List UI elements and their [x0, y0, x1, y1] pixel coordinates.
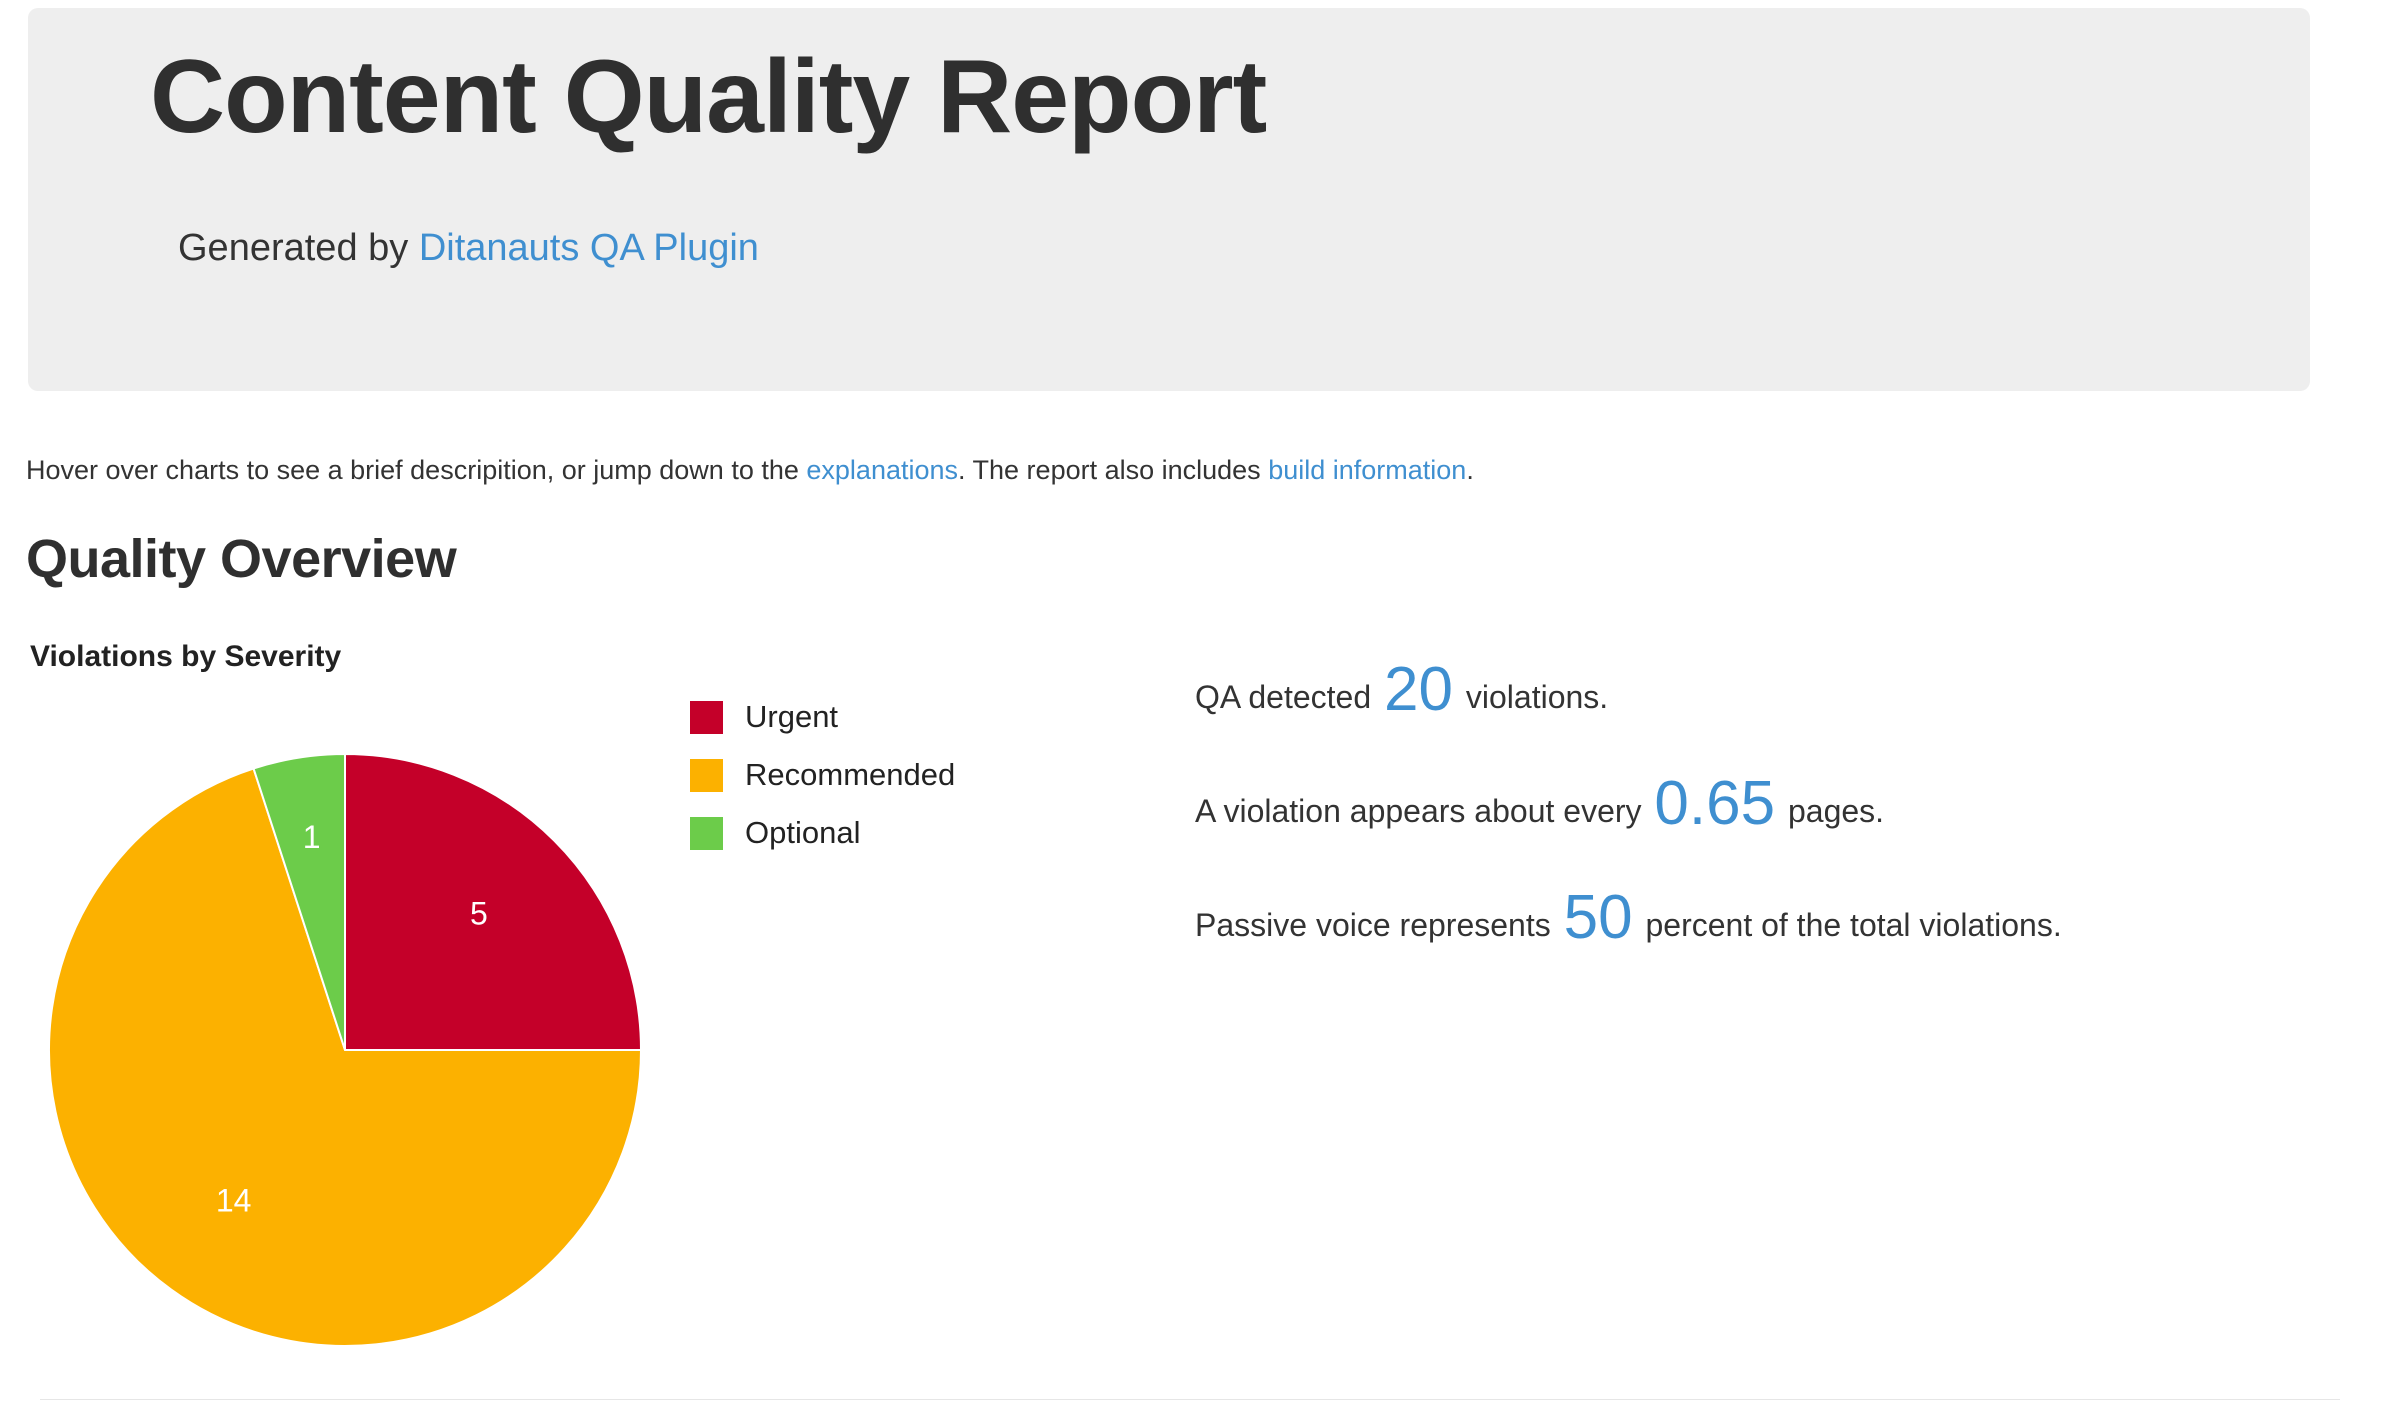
stat-value: 0.65 — [1650, 769, 1779, 838]
section-heading-quality-overview: Quality Overview — [26, 528, 456, 590]
intro-text-part3: . — [1466, 455, 1474, 485]
build-information-link[interactable]: build information — [1268, 455, 1466, 485]
intro-text-part1: Hover over charts to see a brief descrip… — [26, 455, 806, 485]
stat-suffix: violations. — [1457, 679, 1608, 715]
legend-swatch-icon — [690, 817, 723, 850]
pie-slice-value-label: 14 — [216, 1183, 252, 1219]
pie-slice-value-label: 5 — [470, 896, 488, 932]
stat-value: 50 — [1560, 883, 1637, 952]
legend-swatch-icon — [690, 701, 723, 734]
stat-prefix: QA detected — [1195, 679, 1380, 715]
intro-text-part2: . The report also includes — [958, 455, 1268, 485]
legend-item-recommended[interactable]: Recommended — [690, 746, 1110, 804]
page-header-banner: Content Quality Report Generated by Dita… — [28, 8, 2310, 391]
pie-chart-svg: 5141 — [48, 753, 642, 1347]
stat-violations-per-page: A violation appears about every 0.65 pag… — [1195, 754, 2355, 868]
legend-item-label: Recommended — [745, 757, 955, 793]
legend-item-urgent[interactable]: Urgent — [690, 688, 1110, 746]
legend-item-label: Urgent — [745, 699, 838, 735]
byline: Generated by Ditanauts QA Plugin — [178, 226, 759, 272]
page-title: Content Quality Report — [150, 38, 1266, 158]
byline-plugin-link[interactable]: Ditanauts QA Plugin — [419, 227, 759, 269]
stat-suffix: pages. — [1779, 793, 1884, 829]
pie-slice[interactable] — [345, 754, 641, 1050]
stat-total-violations: QA detected 20 violations. — [1195, 640, 2355, 754]
violations-by-severity-chart[interactable]: Violations by Severity 5141 Urgent Recom… — [0, 620, 1180, 1380]
stat-prefix: A violation appears about every — [1195, 793, 1650, 829]
summary-statistics: QA detected 20 violations. A violation a… — [1195, 640, 2355, 982]
pie-slice-value-label: 1 — [303, 819, 321, 855]
stat-prefix: Passive voice represents — [1195, 907, 1560, 943]
pie-slice-group — [49, 754, 641, 1346]
stat-value: 20 — [1380, 655, 1457, 724]
section-divider — [40, 1399, 2340, 1400]
stat-passive-voice-percent: Passive voice represents 50 percent of t… — [1195, 868, 2355, 982]
chart-legend: Urgent Recommended Optional — [690, 688, 1110, 862]
legend-item-label: Optional — [745, 815, 860, 851]
stat-suffix: percent of the total violations. — [1637, 907, 2062, 943]
chart-title: Violations by Severity — [30, 640, 341, 674]
explanations-link[interactable]: explanations — [806, 455, 958, 485]
legend-swatch-icon — [690, 759, 723, 792]
intro-paragraph: Hover over charts to see a brief descrip… — [26, 453, 1474, 488]
legend-item-optional[interactable]: Optional — [690, 804, 1110, 862]
pie-chart[interactable]: 5141 — [48, 753, 642, 1347]
byline-prefix: Generated by — [178, 227, 419, 269]
